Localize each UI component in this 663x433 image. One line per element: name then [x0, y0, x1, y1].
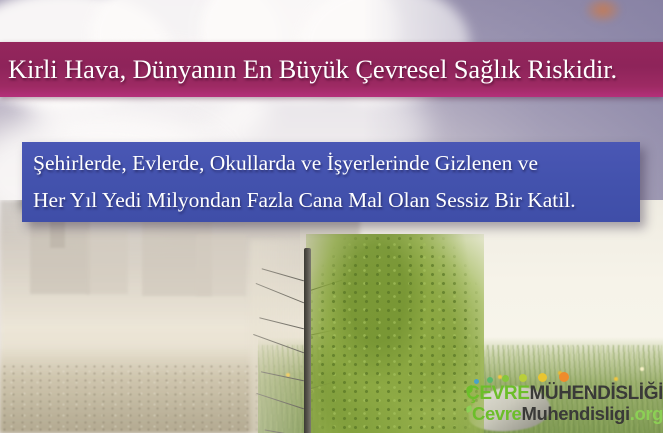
poster-image: Kirli Hava, Dünyanın En Büyük Çevresel S… — [0, 0, 663, 433]
site-logo[interactable]: ÇEVREMÜHENDİSLİĞİ CevreMuhendisligi.org — [466, 372, 662, 428]
logo-line-1: ÇEVREMÜHENDİSLİĞİ — [466, 383, 663, 405]
ruined-building — [196, 234, 246, 296]
logo-url-muhendisligi: Muhendisligi — [521, 403, 629, 424]
title-banner: Kirli Hava, Dünyanın En Büyük Çevresel S… — [0, 42, 663, 97]
logo-url-tld: .org — [630, 403, 663, 424]
logo-cevre-text: ÇEVRE — [466, 383, 529, 404]
wildflower — [640, 367, 644, 371]
logo-muhendisligi-text: MÜHENDİSLİĞİ — [529, 383, 662, 404]
logo-dot — [519, 374, 527, 382]
logo-line-2: CevreMuhendisligi.org — [472, 403, 663, 425]
poster-title: Kirli Hava, Dünyanın En Büyük Çevresel S… — [0, 56, 663, 83]
split-tree — [258, 240, 488, 433]
logo-dot — [559, 372, 569, 382]
logo-dot — [538, 373, 547, 382]
dead-side-haze — [250, 240, 306, 433]
logo-dot — [502, 375, 509, 382]
subtitle-line-2: Her Yıl Yedi Milyondan Fazla Cana Mal Ol… — [22, 182, 640, 219]
tree-foliage-texture — [306, 234, 484, 433]
ruined-building — [86, 230, 128, 294]
subtitle-box: Şehirlerde, Evlerde, Okullarda ve İşyerl… — [22, 142, 640, 222]
subtitle-line-1: Şehirlerde, Evlerde, Okullarda ve İşyerl… — [22, 145, 640, 182]
logo-url-cevre: Cevre — [472, 403, 521, 424]
tree-trunk — [304, 248, 311, 433]
